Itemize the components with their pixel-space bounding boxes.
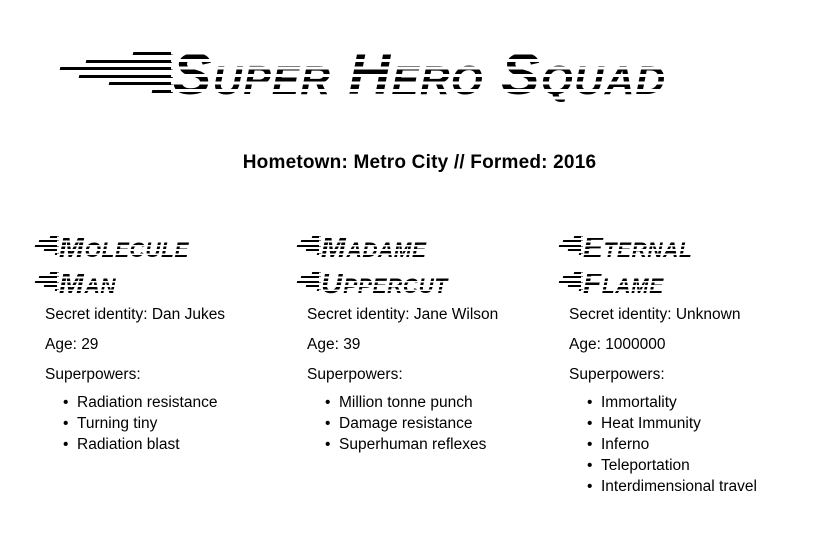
list-item: Teleportation: [601, 455, 821, 476]
hero-card: Madame Uppercut Secret identity: Jane Wi…: [307, 232, 569, 497]
list-item: Heat Immunity: [601, 413, 821, 434]
hero-powers-label: Superpowers:: [307, 366, 559, 383]
hero-name-line: Uppercut: [307, 268, 537, 300]
hero-secret-identity: Secret identity: Jane Wilson: [307, 306, 559, 323]
hero-name: Madame Uppercut: [307, 232, 537, 300]
hero-age: Age: 1000000: [569, 336, 821, 353]
hero-name-word: Man: [59, 267, 116, 300]
hero-age: Age: 39: [307, 336, 559, 353]
hero-age: Age: 29: [45, 336, 297, 353]
hero-name-line: Flame: [569, 268, 799, 300]
hero-name-line-text: Uppercut: [321, 268, 448, 300]
page-title-text: Super Hero Squad: [173, 42, 667, 107]
hero-powers-label: Superpowers:: [569, 366, 821, 383]
hero-name-line-text: Eternal: [583, 232, 692, 264]
hero-secret-identity: Secret identity: Dan Jukes: [45, 306, 297, 323]
list-item: Radiation resistance: [77, 392, 297, 413]
hero-name: Molecule Man: [45, 232, 275, 300]
hero-card: Eternal Flame Secret identity: Unknown A…: [569, 232, 831, 497]
hero-powers-list: Million tonne punch Damage resistance Su…: [307, 392, 559, 455]
speed-lines-icon: [33, 232, 59, 264]
hero-name-line-text: Flame: [583, 268, 664, 300]
list-item: Million tonne punch: [339, 392, 559, 413]
list-item: Turning tiny: [77, 413, 297, 434]
list-item: Inferno: [601, 434, 821, 455]
hero-powers-label: Superpowers:: [45, 366, 297, 383]
list-item: Interdimensional travel: [601, 476, 821, 497]
list-item: Radiation blast: [77, 434, 297, 455]
hero-name-line: Man: [45, 268, 275, 300]
page-subtitle: Hometown: Metro City // Formed: 2016: [0, 152, 839, 174]
hero-powers-list: Immortality Heat Immunity Inferno Telepo…: [569, 392, 821, 497]
hero-name-line: Madame: [307, 232, 537, 264]
hero-name-word: Flame: [583, 267, 664, 300]
speed-lines-icon: [33, 268, 59, 300]
hero-name-word: Uppercut: [321, 267, 448, 300]
list-item: Immortality: [601, 392, 821, 413]
hero-name-word: Eternal: [583, 231, 692, 264]
hero-name-line-text: Molecule: [59, 232, 189, 264]
hero-name-line-text: Madame: [321, 232, 427, 264]
hero-list: Molecule Man Secret identity: Dan Jukes …: [45, 232, 839, 497]
hero-secret-identity: Secret identity: Unknown: [569, 306, 821, 323]
hero-name-line-text: Man: [59, 268, 116, 300]
page-title-block: Super Hero Squad: [0, 44, 839, 106]
page-title: Super Hero Squad: [173, 44, 667, 106]
speed-lines-icon: [53, 44, 173, 106]
hero-name-line: Eternal: [569, 232, 799, 264]
list-item: Superhuman reflexes: [339, 434, 559, 455]
hero-card: Molecule Man Secret identity: Dan Jukes …: [45, 232, 307, 497]
hero-name-word: Madame: [321, 231, 427, 264]
hero-name-word: Molecule: [59, 231, 189, 264]
hero-powers-list: Radiation resistance Turning tiny Radiat…: [45, 392, 297, 455]
list-item: Damage resistance: [339, 413, 559, 434]
hero-name: Eternal Flame: [569, 232, 799, 300]
hero-name-line: Molecule: [45, 232, 275, 264]
